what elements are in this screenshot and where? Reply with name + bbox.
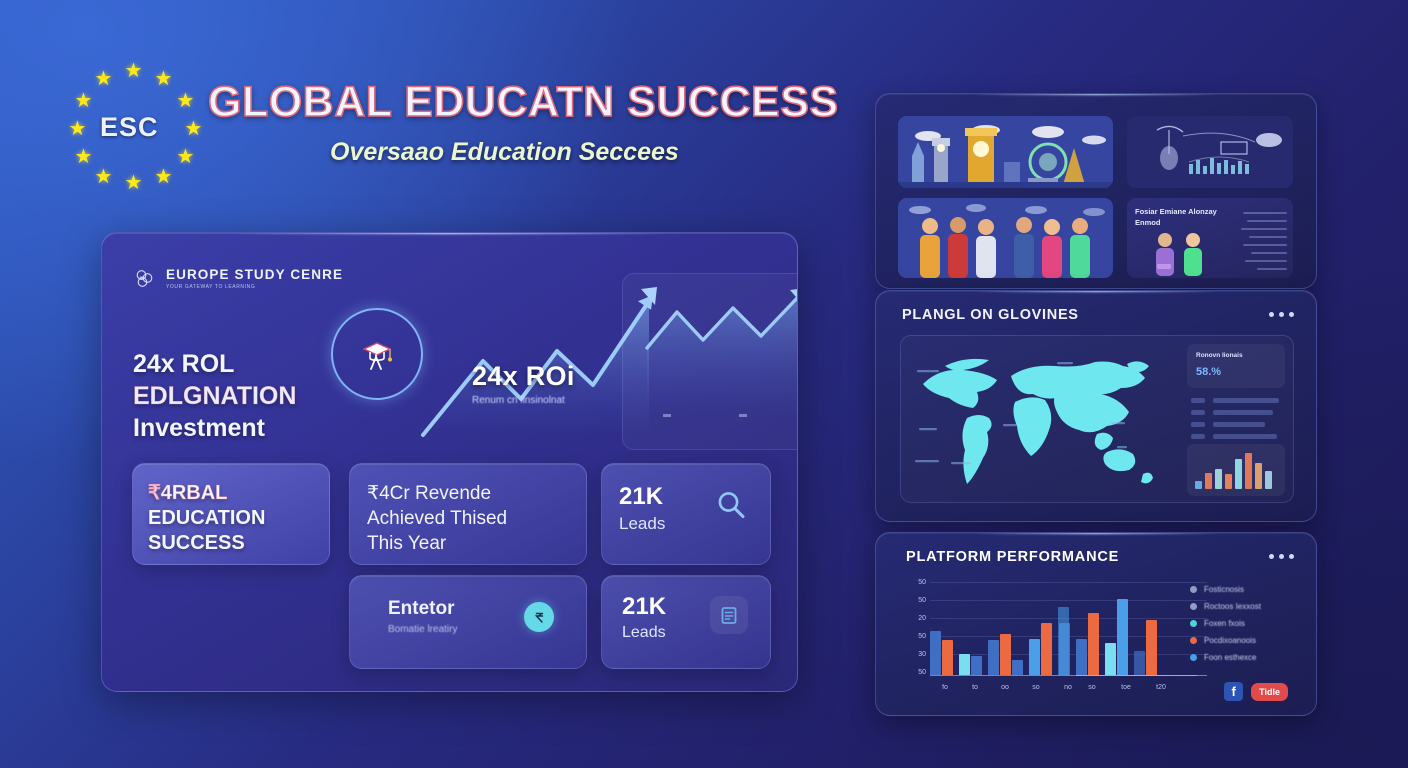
info-card-tile[interactable]: Fosiar Emiane Alonzay Enmod	[1127, 198, 1293, 278]
hero-headline-line2: EDLGNATION	[133, 380, 363, 412]
performance-bar-chart-secondary: so toe t20	[1072, 579, 1197, 691]
x-tick: so	[1076, 684, 1108, 691]
card-global-line2: EDUCATION	[148, 506, 265, 531]
map-panel-title: PLANGL ON GLOVINES	[902, 307, 1079, 323]
x-axis-labels-secondary: so toe t20	[1076, 684, 1197, 691]
leads-primary-label: Leads	[619, 514, 665, 534]
chart-bars-secondary	[1076, 595, 1197, 675]
bar-group	[1134, 620, 1157, 675]
students-illustration	[898, 198, 1113, 278]
chart-legend: Fosticnosis Roctoos Iexxost Foxen fxois …	[1190, 585, 1302, 670]
eu-stars-icon: ★ ★ ★ ★ ★ ★ ★ ★ ★ ★ ★ ★ ESC	[68, 62, 204, 190]
legend-label: Foon esthexce	[1204, 653, 1256, 662]
leads-secondary-label: Leads	[622, 624, 666, 642]
legend-item[interactable]: Pocdixoanoois	[1190, 636, 1302, 645]
bar-group	[1105, 599, 1128, 675]
bar-group	[1076, 613, 1099, 675]
brand-lockup: EUROPE STUDY CENRE YOUR GATEWAY TO LEARN…	[132, 267, 343, 291]
legend-item[interactable]: Foxen fxois	[1190, 619, 1302, 628]
legend-label: Roctoos Iexxost	[1204, 602, 1261, 611]
page-title: GLOBAL EDUCATN SUCCESS	[208, 78, 839, 127]
roi-badge-caption: Renum cn llnsinolnat	[472, 395, 575, 406]
night-scene-tile[interactable]	[1127, 116, 1293, 188]
y-axis-labels: 50 50 20 50 30 50	[902, 579, 926, 675]
map-list	[1187, 394, 1285, 438]
map-stat-label: Ronovn Iionais	[1196, 352, 1243, 359]
card-global-education-success[interactable]: ₹4RBAL EDUCATION SUCCESS	[132, 463, 330, 565]
hero-card: EUROPE STUDY CENRE YOUR GATEWAY TO LEARN…	[101, 232, 798, 692]
leads-secondary-value: 21K	[622, 593, 666, 621]
brand-name: EUROPE STUDY CENRE	[166, 268, 343, 282]
y-tick: 50	[918, 597, 926, 604]
legend-label: Foxen fxois	[1204, 619, 1245, 628]
legend-item[interactable]: Fosticnosis	[1190, 585, 1302, 594]
y-tick: 50	[918, 669, 926, 676]
card-leads-secondary[interactable]: 21K Leads	[601, 575, 771, 669]
x-tick: so	[1020, 684, 1052, 691]
card-revenue-line1: ₹4Cr Revende	[367, 481, 507, 506]
esc-logo-text: ESC	[100, 112, 172, 146]
legend-item[interactable]: Foon esthexce	[1190, 653, 1302, 662]
legend-label: Fosticnosis	[1204, 585, 1244, 594]
y-tick: 30	[918, 651, 926, 658]
night-sketch-illustration	[1127, 116, 1293, 188]
performance-panel-title: PLATFORM PERFORMANCE	[906, 549, 1119, 565]
more-options-icon[interactable]	[1269, 312, 1294, 317]
page-header: ★ ★ ★ ★ ★ ★ ★ ★ ★ ★ ★ ★ ESC GLOBAL EDUCA…	[60, 56, 850, 196]
media-panel: Fosiar Emiane Alonzay Enmod	[875, 93, 1317, 289]
bar-group	[930, 631, 953, 675]
brand-emblem-icon	[132, 267, 157, 291]
roi-badge-value: 24x ROi	[472, 361, 575, 392]
x-tick: fo	[930, 684, 960, 691]
info-card-heading: Fosiar Emiane Alonzay Enmod	[1135, 206, 1240, 229]
x-tick: oo	[990, 684, 1020, 691]
document-icon[interactable]	[710, 596, 748, 634]
chart-x-axis-secondary	[1076, 675, 1197, 676]
chart-axis-ticks	[663, 414, 798, 417]
poster-root: ★ ★ ★ ★ ★ ★ ★ ★ ★ ★ ★ ★ ESC GLOBAL EDUCA…	[0, 0, 1408, 768]
graduate-cap-icon	[331, 308, 423, 400]
leads-primary-value: 21K	[619, 483, 663, 511]
card-leads-primary[interactable]: 21K Leads	[601, 463, 771, 565]
card-revenue-line2: Achieved Thised	[367, 506, 507, 531]
bar-group	[1058, 607, 1070, 675]
card-global-line1: ₹4RBAL	[148, 481, 265, 506]
social-links: f Tidle	[1224, 682, 1288, 701]
y-tick: 50	[918, 579, 926, 586]
card-revenue-line3: This Year	[367, 531, 507, 556]
performance-panel: PLATFORM PERFORMANCE 50 50 20 50 30 50	[875, 532, 1317, 716]
map-stat-value: 58.%	[1196, 366, 1221, 378]
legend-item[interactable]: Roctoos Iexxost	[1190, 602, 1302, 611]
y-tick: 50	[918, 633, 926, 640]
x-tick: t20	[1144, 684, 1178, 691]
hero-headline-line1: 24x ROL	[133, 348, 363, 380]
more-options-icon[interactable]	[1269, 554, 1294, 559]
search-icon[interactable]	[714, 488, 748, 522]
map-stat-card: Ronovn Iionais 58.%	[1187, 344, 1285, 388]
rupee-badge-icon[interactable]	[524, 602, 554, 632]
map-panel: PLANGL ON GLOVINES	[875, 290, 1317, 522]
legend-label: Pocdixoanoois	[1204, 636, 1256, 645]
city-landmarks-tile[interactable]	[898, 116, 1113, 188]
bar-group	[988, 634, 1023, 675]
map-container[interactable]: Ronovn Iionais 58.%	[900, 335, 1294, 503]
facebook-icon[interactable]: f	[1224, 682, 1243, 701]
x-tick: toe	[1108, 684, 1144, 691]
roi-badge: 24x ROi Renum cn llnsinolnat	[472, 361, 575, 406]
card-entetor[interactable]: Entetor Bomatie lreatiry	[349, 575, 587, 669]
bar-group	[959, 654, 982, 675]
landmarks-illustration	[898, 116, 1113, 188]
page-subtitle: Oversaao Education Seccees	[330, 138, 679, 167]
x-tick: to	[960, 684, 990, 691]
card-global-line3: SUCCESS	[148, 531, 265, 556]
card-revenue[interactable]: ₹4Cr Revende Achieved Thised This Year	[349, 463, 587, 565]
card-global-text: ₹4RBAL EDUCATION SUCCESS	[148, 481, 265, 557]
growth-chart-secondary	[622, 273, 798, 450]
map-mini-chart	[1187, 444, 1285, 496]
world-map-icon	[911, 342, 1173, 494]
card-revenue-text: ₹4Cr Revende Achieved Thised This Year	[367, 481, 507, 556]
hero-headline-line3: Investment	[133, 412, 363, 444]
youtube-badge[interactable]: Tidle	[1251, 683, 1288, 701]
counselling-illustration	[1135, 228, 1225, 276]
hero-headline: 24x ROL EDLGNATION Investment	[133, 348, 363, 444]
entetor-subtitle: Bomatie lreatiry	[388, 624, 457, 635]
brand-tagline: YOUR GATEWAY TO LEARNING	[166, 285, 343, 290]
bar-group	[1029, 623, 1052, 675]
y-tick: 20	[918, 615, 926, 622]
entetor-title: Entetor	[388, 598, 455, 620]
students-group-tile[interactable]	[898, 198, 1113, 278]
